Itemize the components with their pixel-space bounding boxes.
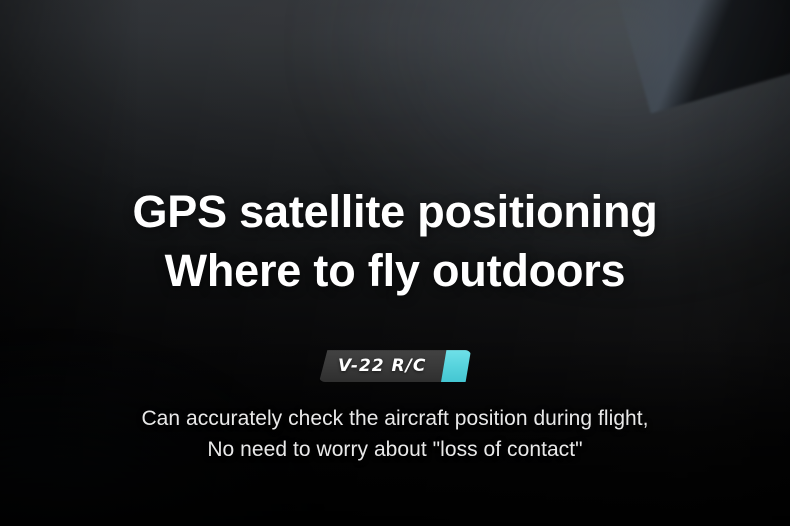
- headline: GPS satellite positioning Where to fly o…: [132, 182, 657, 300]
- badge-label: V-22 R/C: [319, 350, 471, 382]
- product-feature-banner: GPS satellite positioning Where to fly o…: [0, 0, 790, 526]
- headline-line-1: GPS satellite positioning: [132, 182, 657, 241]
- subheadline-line-1: Can accurately check the aircraft positi…: [141, 403, 648, 434]
- banner-content: GPS satellite positioning Where to fly o…: [0, 0, 790, 526]
- subheadline-line-2: No need to worry about "loss of contact": [141, 434, 648, 465]
- model-badge: V-22 R/C: [319, 350, 471, 382]
- subheadline: Can accurately check the aircraft positi…: [141, 403, 648, 465]
- headline-line-2: Where to fly outdoors: [132, 241, 657, 300]
